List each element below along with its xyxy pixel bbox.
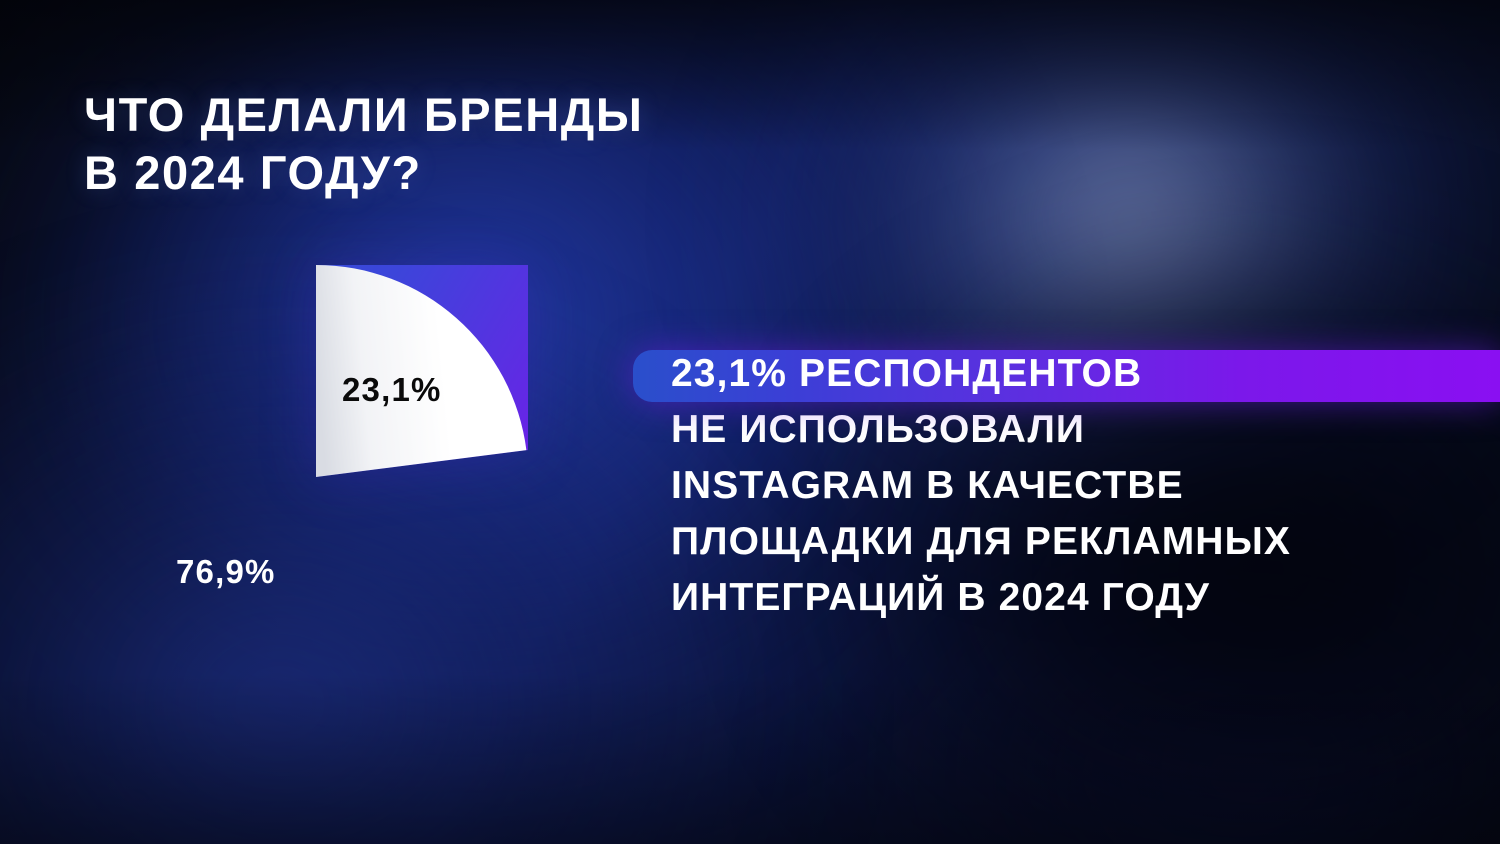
background-bottom-shade	[0, 674, 1500, 844]
statement-line-5: ИНТЕГРАЦИЙ В 2024 ГОДУ	[633, 570, 1500, 626]
page-title: ЧТО ДЕЛАЛИ БРЕНДЫ В 2024 ГОДУ?	[84, 86, 643, 202]
pie-slice-label-major: 76,9%	[176, 553, 276, 591]
pie-chart-svg	[104, 265, 528, 689]
slide-canvas: ЧТО ДЕЛАЛИ БРЕНДЫ В 2024 ГОДУ?	[0, 0, 1500, 844]
statement-line-2: НЕ ИСПОЛЬЗОВАЛИ	[633, 402, 1500, 458]
statement-line-highlighted: 23,1% РЕСПОНДЕНТОВ	[633, 346, 1500, 402]
statement-block: 23,1% РЕСПОНДЕНТОВ НЕ ИСПОЛЬЗОВАЛИ INSTA…	[633, 346, 1500, 626]
statement-line-text: 23,1% РЕСПОНДЕНТОВ	[671, 352, 1142, 395]
pie-chart: 76,9% 23,1%	[104, 265, 528, 689]
pie-slice-label-minor: 23,1%	[342, 371, 442, 409]
statement-line-4: ПЛОЩАДКИ ДЛЯ РЕКЛАМНЫХ	[633, 514, 1500, 570]
statement-line-3: INSTAGRAM В КАЧЕСТВЕ	[633, 458, 1500, 514]
